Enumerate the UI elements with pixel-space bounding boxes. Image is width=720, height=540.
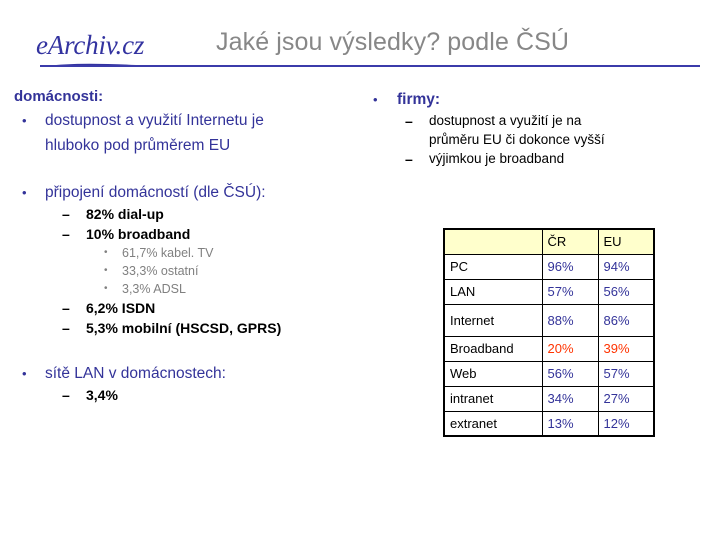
bullet-dot-icon: • (104, 244, 126, 262)
table-corner-cell (444, 229, 542, 254)
table-row: Web 56% 57% (444, 361, 654, 386)
stats-table: ČR EU PC 96% 94% LAN 57% 56% Internet 88… (443, 228, 655, 437)
spacer (10, 157, 358, 179)
bullet-dot-icon: • (104, 262, 126, 280)
row-label: Web (444, 361, 542, 386)
bullet-dash-icon: – (62, 318, 84, 338)
row-label: intranet (444, 386, 542, 411)
table-row: PC 96% 94% (444, 254, 654, 279)
list-item: – výjimkou je broadband (365, 149, 715, 168)
row-label: Broadband (444, 336, 542, 361)
list-item-label: dostupnost a využití Internetu je (10, 110, 358, 132)
bullet-dash-icon: – (62, 224, 84, 244)
table-header: ČR EU (444, 229, 654, 254)
list-item: • připojení domácností (dle ČSÚ): (10, 182, 358, 204)
column-header-cr: ČR (542, 229, 598, 254)
bullet-dash-icon: – (62, 298, 84, 318)
list-item: • sítě LAN v domácnostech: (10, 363, 358, 385)
list-item-label: hluboko pod průměrem EU (10, 135, 358, 157)
list-item-label: 3,3% ADSL (10, 280, 358, 298)
row-value-eu: 39% (598, 336, 654, 361)
list-item: hluboko pod průměrem EU (10, 135, 358, 157)
list-item-label: připojení domácností (dle ČSÚ): (10, 182, 358, 204)
title-divider (40, 65, 700, 67)
stats-table-container: ČR EU PC 96% 94% LAN 57% 56% Internet 88… (443, 228, 655, 437)
row-value-eu: 57% (598, 361, 654, 386)
list-item: – dostupnost a využití je na (365, 111, 715, 130)
row-value-eu: 56% (598, 279, 654, 304)
row-value-cr: 88% (542, 304, 598, 336)
list-item: – 82% dial-up (10, 204, 358, 224)
row-value-eu: 86% (598, 304, 654, 336)
table-body: PC 96% 94% LAN 57% 56% Internet 88% 86% … (444, 254, 654, 436)
row-value-cr: 56% (542, 361, 598, 386)
list-item-label: sítě LAN v domácnostech: (10, 363, 358, 385)
list-item-label: 61,7% kabel. TV (10, 244, 358, 262)
row-label: LAN (444, 279, 542, 304)
row-value-cr: 57% (542, 279, 598, 304)
row-value-cr: 13% (542, 411, 598, 436)
right-heading-row: • firmy: (365, 89, 715, 111)
list-item: • dostupnost a využití Internetu je (10, 110, 358, 132)
earchiv-logo: eArchiv.cz (36, 30, 196, 64)
bullet-dash-icon: – (405, 149, 427, 169)
logo-text: eArchiv.cz (36, 30, 196, 60)
bullet-dot-icon: • (22, 363, 44, 385)
table-row: intranet 34% 27% (444, 386, 654, 411)
column-header-eu: EU (598, 229, 654, 254)
bullet-dash-icon: – (62, 204, 84, 224)
row-label: extranet (444, 411, 542, 436)
row-label: Internet (444, 304, 542, 336)
list-item-label: průměru EU či dokonce vyšší (365, 130, 715, 149)
bullet-dot-icon: • (22, 182, 44, 204)
left-heading: domácnosti: (10, 86, 358, 107)
row-value-cr: 34% (542, 386, 598, 411)
bullet-dash-icon: – (405, 111, 427, 131)
list-item: – 3,4% (10, 385, 358, 405)
spacer (10, 338, 358, 360)
row-value-cr: 96% (542, 254, 598, 279)
slide-header: eArchiv.cz Jaké jsou výsledky? podle ČSÚ (0, 0, 720, 72)
list-item: – 5,3% mobilní (HSCSD, GPRS) (10, 318, 358, 338)
list-item: – 6,2% ISDN (10, 298, 358, 318)
bullet-dot-icon: • (22, 110, 44, 132)
row-value-cr: 20% (542, 336, 598, 361)
bullet-dot-icon: • (373, 89, 395, 111)
row-value-eu: 27% (598, 386, 654, 411)
list-item-label: 33,3% ostatní (10, 262, 358, 280)
right-content-column: • firmy: – dostupnost a využití je na pr… (365, 86, 715, 168)
table-row: extranet 13% 12% (444, 411, 654, 436)
right-heading: firmy: (365, 89, 715, 111)
table-row: Broadband 20% 39% (444, 336, 654, 361)
page-title: Jaké jsou výsledky? podle ČSÚ (216, 28, 569, 57)
table-header-row: ČR EU (444, 229, 654, 254)
row-value-eu: 94% (598, 254, 654, 279)
table-row: LAN 57% 56% (444, 279, 654, 304)
list-item: • 61,7% kabel. TV (10, 244, 358, 262)
list-item: – 10% broadband (10, 224, 358, 244)
left-content-column: domácnosti: • dostupnost a využití Inter… (10, 86, 358, 405)
list-item: • 3,3% ADSL (10, 280, 358, 298)
bullet-dot-icon: • (104, 280, 126, 298)
table-row: Internet 88% 86% (444, 304, 654, 336)
list-item: průměru EU či dokonce vyšší (365, 130, 715, 149)
list-item: • 33,3% ostatní (10, 262, 358, 280)
row-value-eu: 12% (598, 411, 654, 436)
row-label: PC (444, 254, 542, 279)
bullet-dash-icon: – (62, 385, 84, 405)
